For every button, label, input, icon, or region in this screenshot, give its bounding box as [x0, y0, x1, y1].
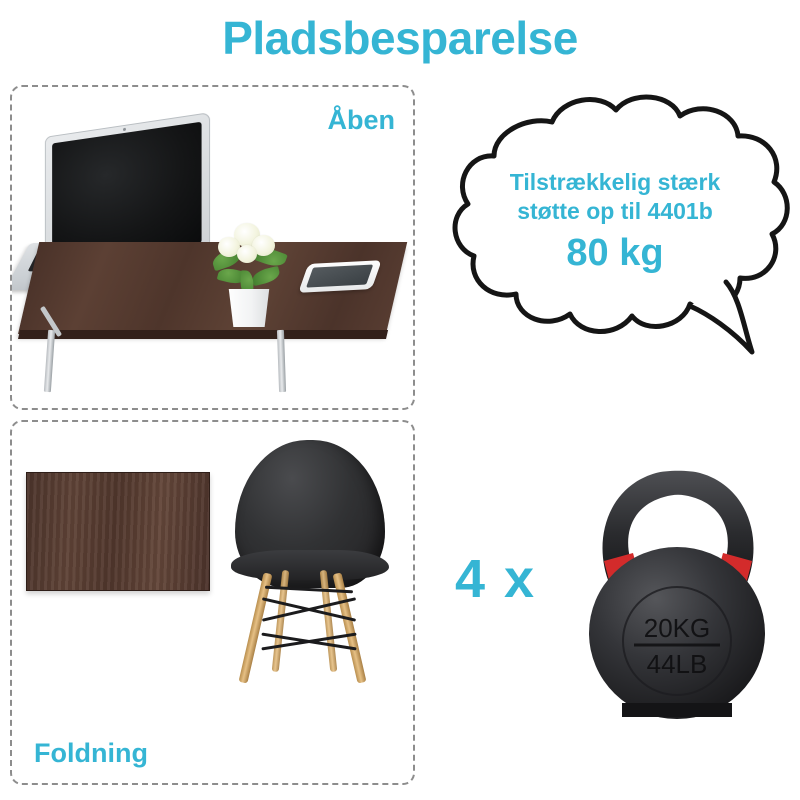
potted-plant-image: [208, 217, 288, 327]
folded-desk-board: [26, 472, 210, 591]
chair-image: [217, 432, 402, 692]
folded-desk-illustration: [12, 422, 413, 783]
chair-seat: [231, 550, 389, 580]
speech-bubble-text: Tilstrækkelig stærk støtte op til 4401b …: [440, 168, 790, 278]
panel-label-folded: Foldning: [34, 738, 148, 769]
desk-leg: [277, 330, 286, 392]
chair-leg: [239, 572, 273, 683]
desk-leg: [44, 330, 55, 392]
kettlebell-weight-lb: 44LB: [647, 649, 708, 679]
kettlebell-image: 20KG 44LB: [570, 445, 785, 730]
speech-bubble: Tilstrækkelig stærk støtte op til 4401b …: [440, 90, 790, 360]
laptop-screen: [52, 122, 201, 256]
plant-foliage: [208, 217, 288, 295]
kettlebell-weight-kg: 20KG: [644, 613, 711, 643]
capacity-line-1: Tilstrækkelig stærk: [440, 168, 790, 197]
flower-pot: [226, 289, 272, 327]
laptop-camera-icon: [123, 128, 126, 131]
panel-open-desk: Åben: [10, 85, 415, 410]
capacity-weight-kg: 80 kg: [440, 229, 790, 278]
panel-folded-desk: Foldning: [10, 420, 415, 785]
quantity-multiplier: 4 x: [455, 548, 536, 610]
kettlebell-base: [622, 703, 732, 717]
smartphone-screen: [306, 264, 373, 287]
page-title: Pladsbesparelse: [0, 14, 800, 62]
panel-label-open: Åben: [328, 105, 396, 136]
desk-edge: [18, 330, 388, 339]
smartphone-image: [298, 260, 382, 293]
capacity-line-2: støtte op til 4401b: [440, 197, 790, 226]
laptop-lid: [45, 112, 210, 263]
